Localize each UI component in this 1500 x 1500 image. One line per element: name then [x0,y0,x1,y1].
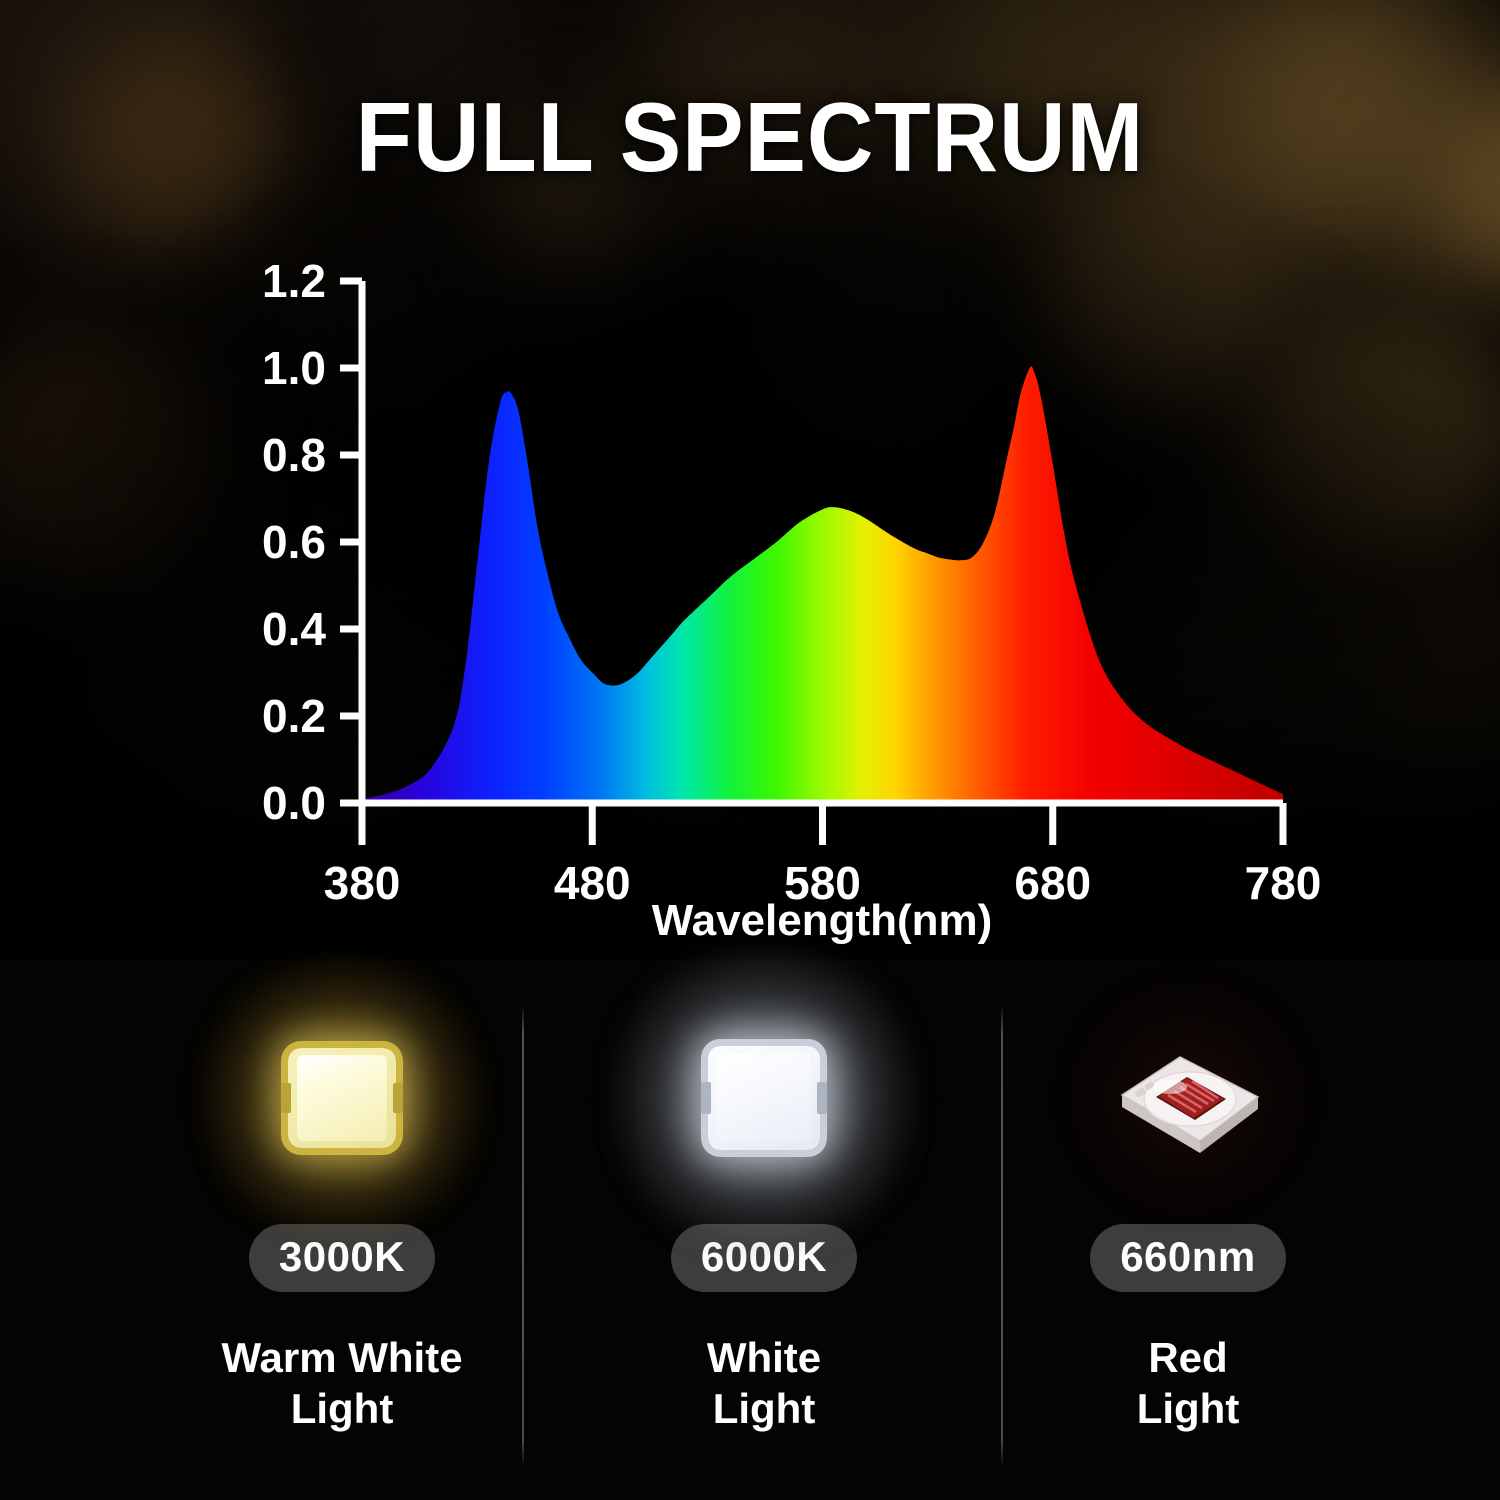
badge-wavelength: 660nm [1090,1224,1286,1292]
red-led-chip-wrap [978,985,1398,1210]
x-tick-label: 680 [1014,857,1091,909]
led-card-warm-white[interactable]: 3000K Warm White Light [132,985,552,1500]
spectrum-chart: 0.00.20.40.60.81.01.2 380480580680780 Wa… [0,0,1500,980]
x-axis-ticks: 380480580680780 [324,803,1322,909]
y-tick-label: 1.2 [262,255,326,307]
spectrum-curve-fill [362,366,1283,803]
y-tick-label: 0.8 [262,429,326,481]
led-card-red[interactable]: 660nm Red Light [978,985,1398,1500]
cool-white-led-chip-icon [708,1046,820,1150]
card-label-white: White Light [554,1332,974,1434]
card-label-line1: Warm White [132,1332,552,1383]
warm-white-led-chip-icon [288,1048,396,1148]
y-tick-label: 0.6 [262,516,326,568]
x-axis-label: Wavelength(nm) [652,896,993,945]
spectrum-chart-svg: 0.00.20.40.60.81.01.2 380480580680780 Wa… [0,0,1500,980]
y-tick-label: 0.4 [262,603,326,655]
card-label-red: Red Light [978,1332,1398,1434]
full-spectrum-infographic: FULL SPECTRUM [0,0,1500,1500]
led-type-cards: 3000K Warm White Light 6000K White Light [0,985,1500,1500]
card-label-line1: White [554,1332,974,1383]
card-label-line2: Light [132,1383,552,1434]
card-label-line2: Light [554,1383,974,1434]
cool-white-led-chip-wrap [554,985,974,1210]
warm-white-led-chip-wrap [132,985,552,1210]
y-tick-label: 1.0 [262,342,326,394]
y-tick-label: 0.2 [262,690,326,742]
card-label-line2: Light [978,1383,1398,1434]
x-tick-label: 480 [554,857,631,909]
y-axis-ticks: 0.00.20.40.60.81.01.2 [262,255,362,829]
card-label-line1: Red [978,1332,1398,1383]
card-label-warm-white: Warm White Light [132,1332,552,1434]
x-tick-label: 780 [1245,857,1322,909]
led-card-white[interactable]: 6000K White Light [554,985,974,1500]
y-tick-label: 0.0 [262,777,326,829]
x-tick-label: 380 [324,857,401,909]
red-led-chip-icon [1108,1023,1268,1173]
